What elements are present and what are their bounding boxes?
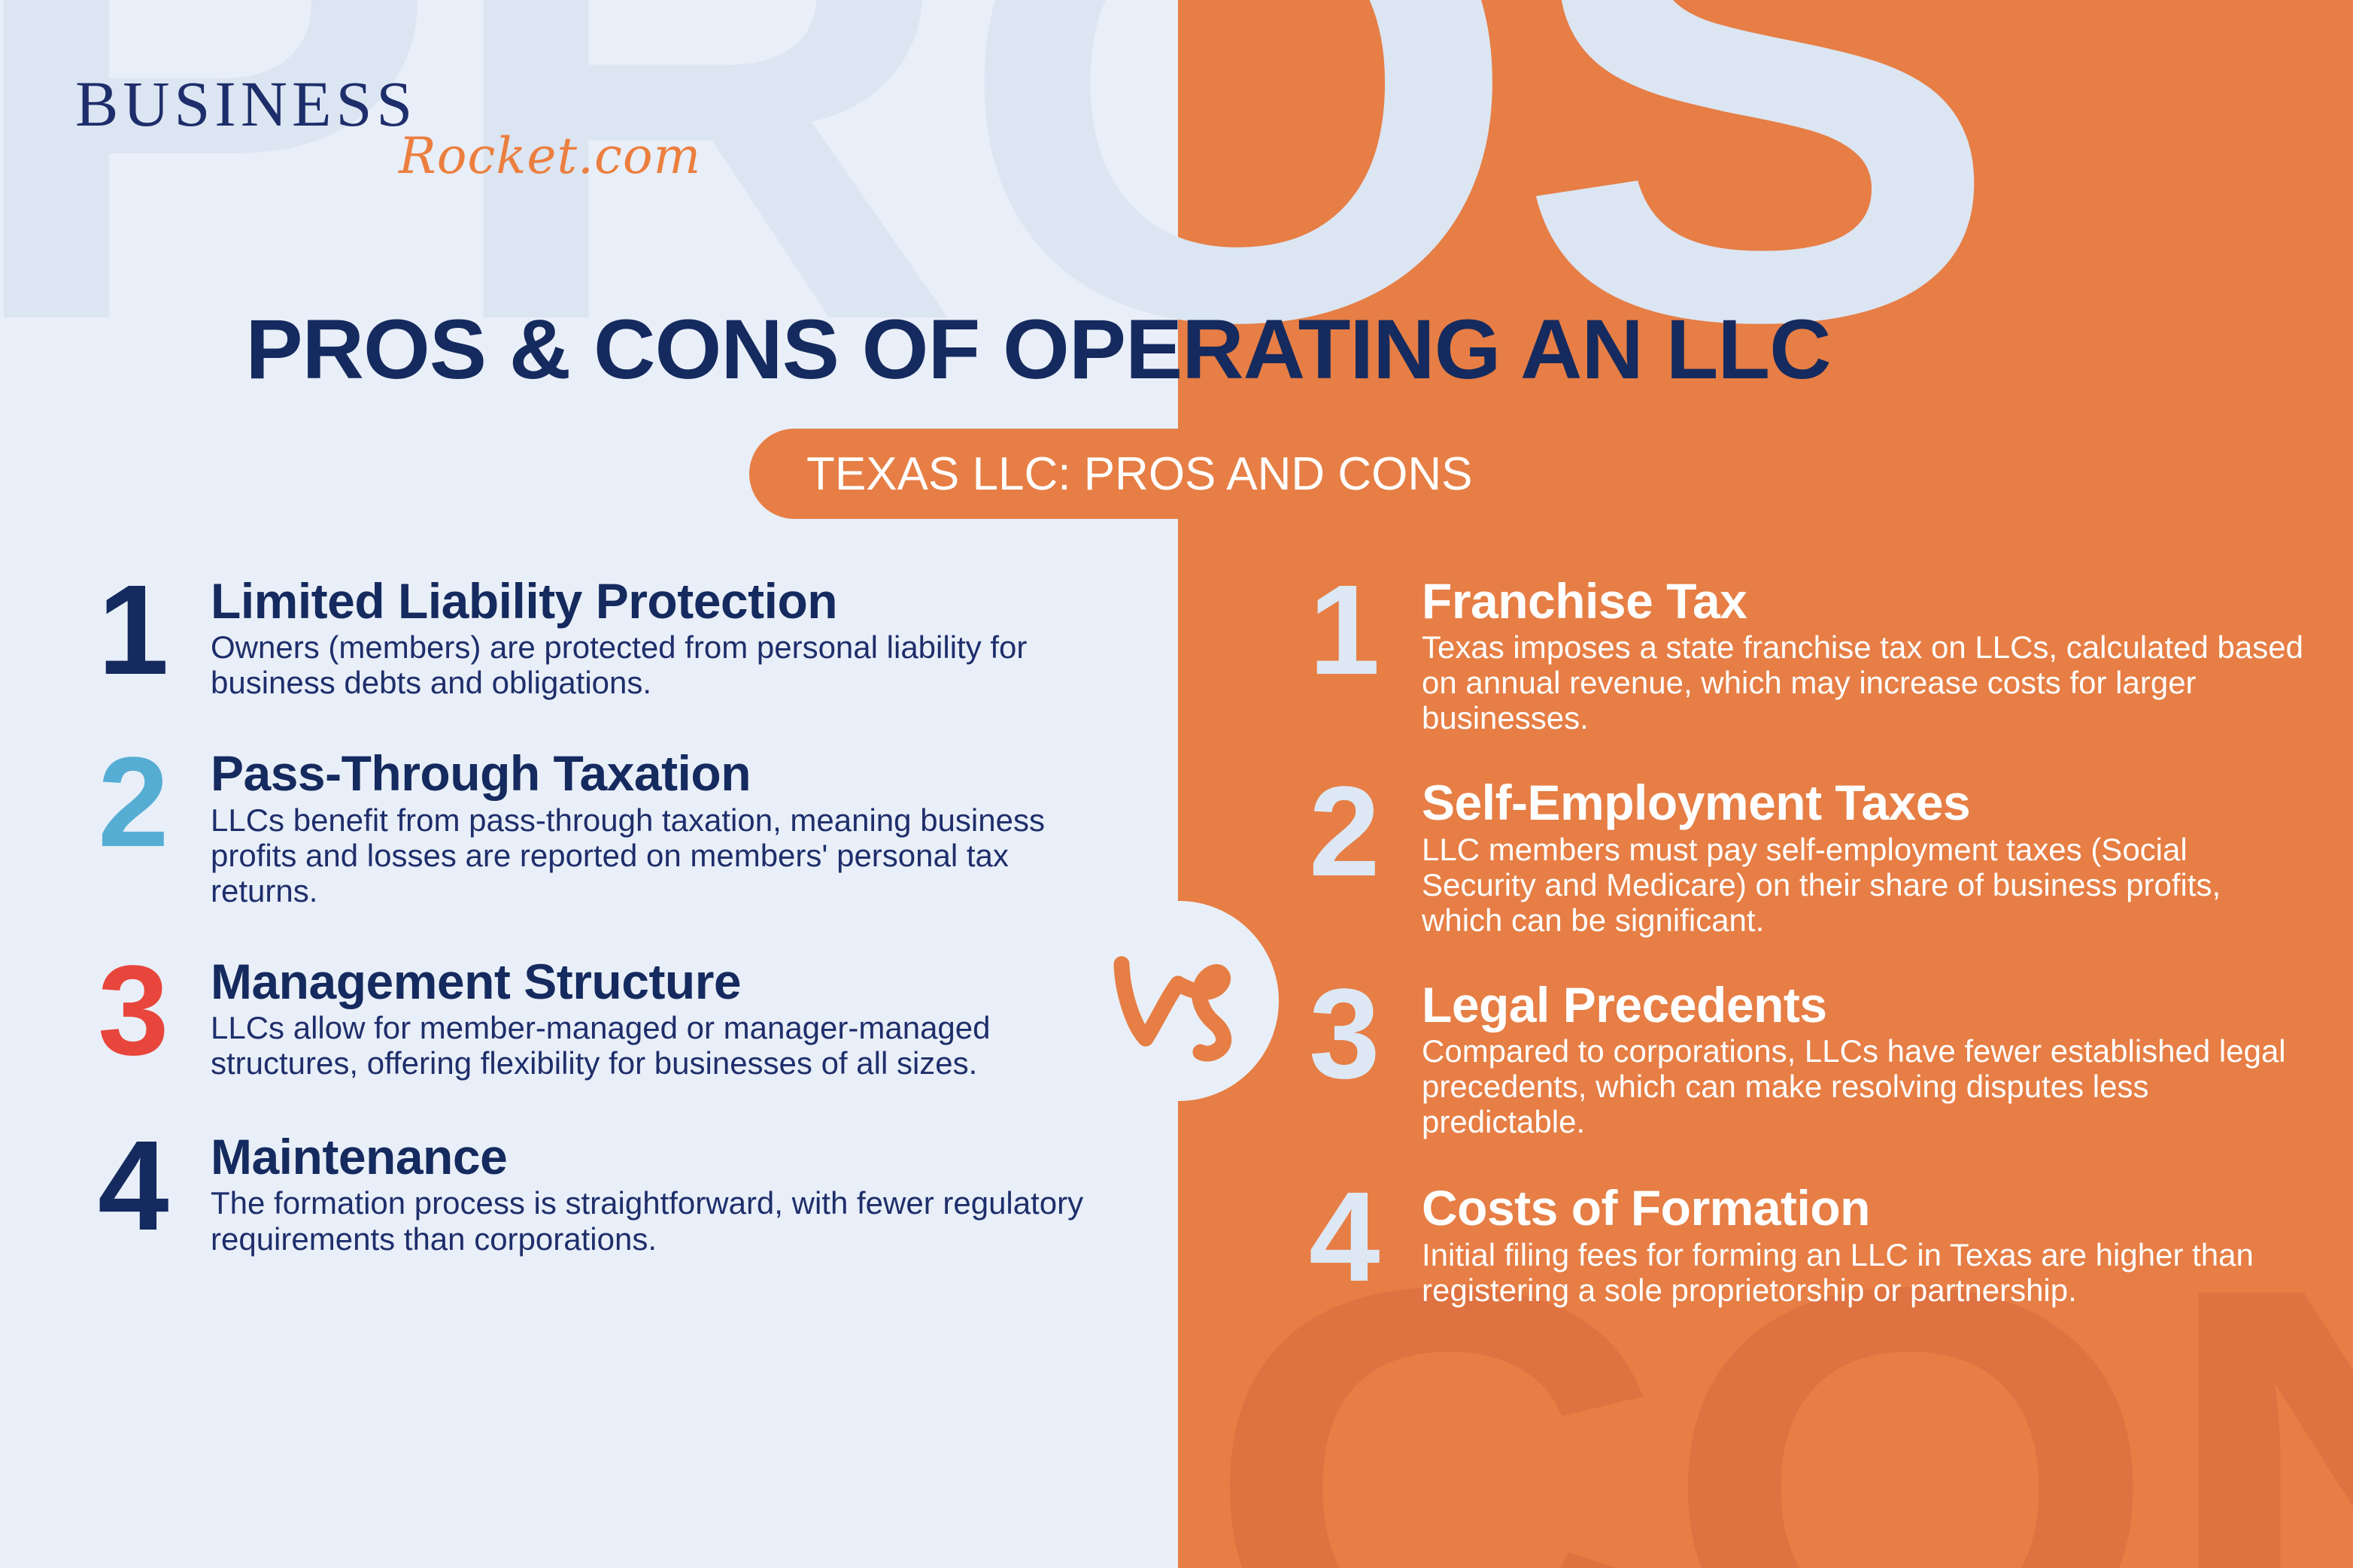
pros-item-body: Management Structure LLCs allow for memb… [211, 952, 1121, 1081]
cons-list: 1 Franchise Tax Texas imposes a state fr… [1309, 572, 2309, 1308]
pros-list-item: 2 Pass-Through Taxation LLCs benefit fro… [98, 744, 1121, 908]
pros-item-title: Management Structure [211, 957, 1121, 1007]
pros-item-description: LLCs benefit from pass-through taxation,… [211, 802, 1121, 908]
pros-item-number: 3 [98, 952, 211, 1069]
cons-item-number: 4 [1309, 1178, 1422, 1296]
cons-item-number: 1 [1309, 572, 1422, 689]
pros-list-item: 4 Maintenance The formation process is s… [98, 1127, 1121, 1256]
pros-item-title: Pass-Through Taxation [211, 748, 1121, 799]
pros-item-body: Limited Liability Protection Owners (mem… [211, 572, 1121, 700]
subtitle-pill: TEXAS LLC: PROS AND CONS [749, 429, 1577, 519]
pros-item-number: 4 [98, 1127, 211, 1245]
page-title: PROS & CONS OF OPERATING AN LLC [0, 301, 2097, 398]
pros-list-item: 1 Limited Liability Protection Owners (m… [98, 572, 1121, 700]
vs-icon [1079, 901, 1279, 1101]
cons-item-description: Texas imposes a state franchise tax on L… [1422, 629, 2309, 735]
cons-item-body: Costs of Formation Initial filing fees f… [1422, 1178, 2309, 1307]
cons-list-item: 3 Legal Precedents Compared to corporati… [1309, 975, 2309, 1139]
pros-item-number: 2 [98, 744, 211, 861]
pros-list: 1 Limited Liability Protection Owners (m… [98, 572, 1121, 1257]
cons-item-body: Self-Employment Taxes LLC members must p… [1422, 773, 2309, 937]
pros-item-body: Maintenance The formation process is str… [211, 1127, 1121, 1256]
pros-item-number: 1 [98, 572, 211, 689]
pros-list-item: 3 Management Structure LLCs allow for me… [98, 952, 1121, 1081]
pros-item-description: The formation process is straightforward… [211, 1185, 1121, 1256]
cons-list-item: 1 Franchise Tax Texas imposes a state fr… [1309, 572, 2309, 735]
cons-item-title: Self-Employment Taxes [1422, 778, 2309, 828]
cons-item-description: Initial filing fees for forming an LLC i… [1422, 1237, 2309, 1308]
cons-item-number: 3 [1309, 975, 1422, 1093]
pros-item-description: Owners (members) are protected from pers… [211, 629, 1121, 700]
cons-item-body: Franchise Tax Texas imposes a state fran… [1422, 572, 2309, 735]
cons-item-description: LLC members must pay self-employment tax… [1422, 832, 2309, 938]
cons-item-title: Franchise Tax [1422, 576, 2309, 626]
cons-item-title: Legal Precedents [1422, 980, 2309, 1030]
cons-item-number: 2 [1309, 773, 1422, 890]
pros-item-body: Pass-Through Taxation LLCs benefit from … [211, 744, 1121, 908]
cons-list-item: 2 Self-Employment Taxes LLC members must… [1309, 773, 2309, 937]
cons-item-title: Costs of Formation [1422, 1183, 2309, 1233]
cons-item-body: Legal Precedents Compared to corporation… [1422, 975, 2309, 1139]
cons-item-description: Compared to corporations, LLCs have fewe… [1422, 1033, 2309, 1139]
pros-item-title: Limited Liability Protection [211, 576, 1121, 626]
pros-item-description: LLCs allow for member-managed or manager… [211, 1010, 1121, 1081]
brand-logo: BUSINESS Rocket.com [75, 71, 752, 192]
subtitle-pill-label: TEXAS LLC: PROS AND CONS [806, 447, 1472, 501]
pros-item-title: Maintenance [211, 1132, 1121, 1182]
infographic-canvas: PROS CONS BUSINESS Rocket.com PROS & CON… [0, 0, 2353, 1568]
cons-list-item: 4 Costs of Formation Initial filing fees… [1309, 1178, 2309, 1307]
brand-logo-rocket-text: Rocket.com [399, 132, 752, 181]
